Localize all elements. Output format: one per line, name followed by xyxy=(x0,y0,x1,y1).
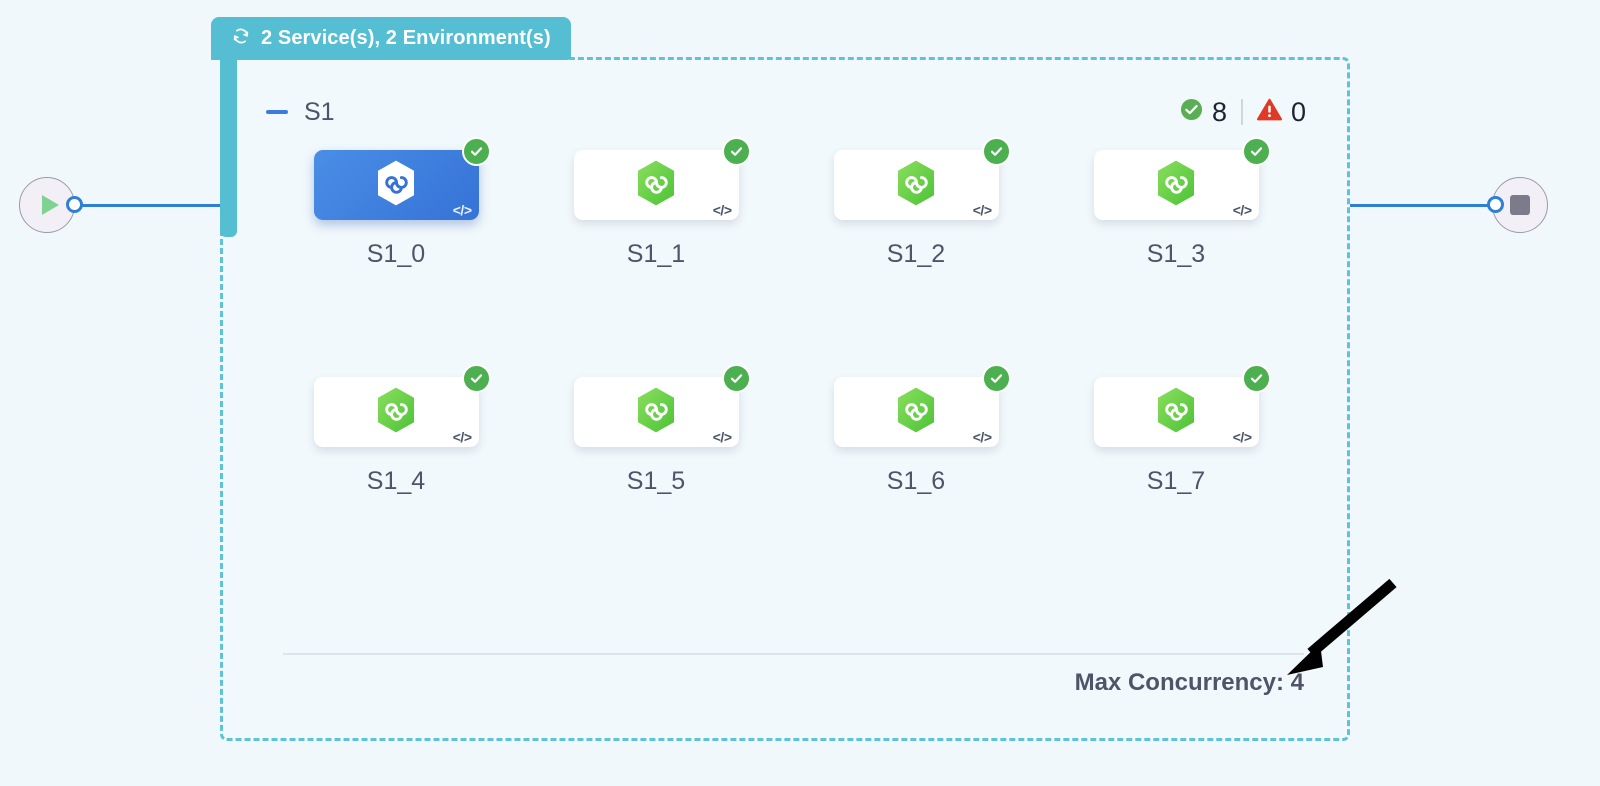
node-label: S1_6 xyxy=(887,467,945,496)
node-item-s1-0[interactable]: </> S1_0 xyxy=(266,150,526,269)
error-count: 0 xyxy=(1291,97,1306,128)
node-label: S1_3 xyxy=(1147,240,1205,269)
hexagon-loop-icon xyxy=(374,386,418,439)
group-tag[interactable]: 2 Service(s), 2 Environment(s) xyxy=(211,17,571,60)
hexagon-loop-icon xyxy=(634,386,678,439)
status-divider xyxy=(1241,99,1243,125)
check-circle-icon xyxy=(722,364,751,393)
code-brackets-icon: </> xyxy=(973,429,992,445)
hexagon-loop-icon xyxy=(634,159,678,212)
edge-group-to-end xyxy=(1350,204,1495,207)
node-label: S1_7 xyxy=(1147,467,1205,496)
node-card[interactable]: </> xyxy=(1094,150,1259,220)
workflow-canvas[interactable]: 2 Service(s), 2 Environment(s) S1 8 xyxy=(0,0,1600,786)
node-card-wrapper[interactable]: </> xyxy=(834,150,999,220)
code-brackets-icon: </> xyxy=(973,202,992,218)
success-status: 8 xyxy=(1180,97,1227,128)
collapse-minus-icon[interactable] xyxy=(266,110,288,114)
node-card-wrapper[interactable]: </> xyxy=(314,377,479,447)
stop-icon xyxy=(1510,195,1530,215)
node-card-wrapper[interactable]: </> xyxy=(574,377,739,447)
node-card-wrapper[interactable]: </> xyxy=(834,377,999,447)
error-status: 0 xyxy=(1257,97,1306,128)
node-card[interactable]: </> xyxy=(1094,377,1259,447)
hexagon-loop-icon xyxy=(894,159,938,212)
node-row: </> S1_4 xyxy=(266,377,1308,496)
check-circle-icon xyxy=(1242,364,1271,393)
node-item-s1-7[interactable]: </> S1_7 xyxy=(1046,377,1306,496)
group-tag-label: 2 Service(s), 2 Environment(s) xyxy=(261,27,551,50)
max-concurrency-label: Max Concurrency: 4 xyxy=(1075,669,1304,697)
warning-triangle-icon xyxy=(1257,98,1282,126)
node-item-s1-2[interactable]: </> S1_2 xyxy=(786,150,1046,269)
node-item-s1-6[interactable]: </> S1_6 xyxy=(786,377,1046,496)
code-brackets-icon: </> xyxy=(1233,202,1252,218)
node-label: S1_2 xyxy=(887,240,945,269)
play-icon xyxy=(42,195,59,215)
check-circle-icon xyxy=(1242,137,1271,166)
hexagon-loop-icon xyxy=(374,159,418,212)
hexagon-loop-icon xyxy=(1154,159,1198,212)
node-card[interactable]: </> xyxy=(574,377,739,447)
node-label: S1_1 xyxy=(627,240,685,269)
footer-divider xyxy=(283,653,1304,655)
code-brackets-icon: </> xyxy=(453,202,472,218)
service-group-container[interactable]: 2 Service(s), 2 Environment(s) S1 8 xyxy=(220,57,1350,741)
node-card[interactable]: </> xyxy=(574,150,739,220)
status-summary: 8 0 xyxy=(1180,97,1306,128)
node-card-wrapper[interactable]: </> xyxy=(1094,377,1259,447)
check-circle-icon xyxy=(1180,98,1203,126)
node-row: </> S1_0 xyxy=(266,150,1308,269)
service-header: S1 8 xyxy=(266,92,1306,132)
node-label: S1_5 xyxy=(627,467,685,496)
service-name: S1 xyxy=(304,98,335,127)
node-item-s1-4[interactable]: </> S1_4 xyxy=(266,377,526,496)
code-brackets-icon: </> xyxy=(1233,429,1252,445)
node-card-wrapper[interactable]: </> xyxy=(574,150,739,220)
node-card-wrapper[interactable]: </> xyxy=(1094,150,1259,220)
check-circle-icon xyxy=(982,364,1011,393)
hexagon-loop-icon xyxy=(1154,386,1198,439)
node-label: S1_0 xyxy=(367,240,425,269)
node-card[interactable]: </> xyxy=(834,377,999,447)
hexagon-loop-icon xyxy=(894,386,938,439)
code-brackets-icon: </> xyxy=(713,429,732,445)
node-grid: </> S1_0 xyxy=(266,150,1308,534)
node-card[interactable]: </> xyxy=(314,150,479,220)
node-item-s1-1[interactable]: </> S1_1 xyxy=(526,150,786,269)
node-card[interactable]: </> xyxy=(834,150,999,220)
output-port-handle[interactable] xyxy=(66,196,83,213)
check-circle-icon xyxy=(462,364,491,393)
check-circle-icon xyxy=(462,137,491,166)
code-brackets-icon: </> xyxy=(713,202,732,218)
check-circle-icon xyxy=(982,137,1011,166)
loop-icon xyxy=(230,25,252,52)
node-item-s1-3[interactable]: </> S1_3 xyxy=(1046,150,1306,269)
edge-start-to-group xyxy=(76,204,222,207)
input-port-handle[interactable] xyxy=(1487,196,1504,213)
node-card-wrapper[interactable]: </> xyxy=(314,150,479,220)
node-label: S1_4 xyxy=(367,467,425,496)
code-brackets-icon: </> xyxy=(453,429,472,445)
node-card[interactable]: </> xyxy=(314,377,479,447)
node-item-s1-5[interactable]: </> S1_5 xyxy=(526,377,786,496)
check-circle-icon xyxy=(722,137,751,166)
success-count: 8 xyxy=(1212,97,1227,128)
